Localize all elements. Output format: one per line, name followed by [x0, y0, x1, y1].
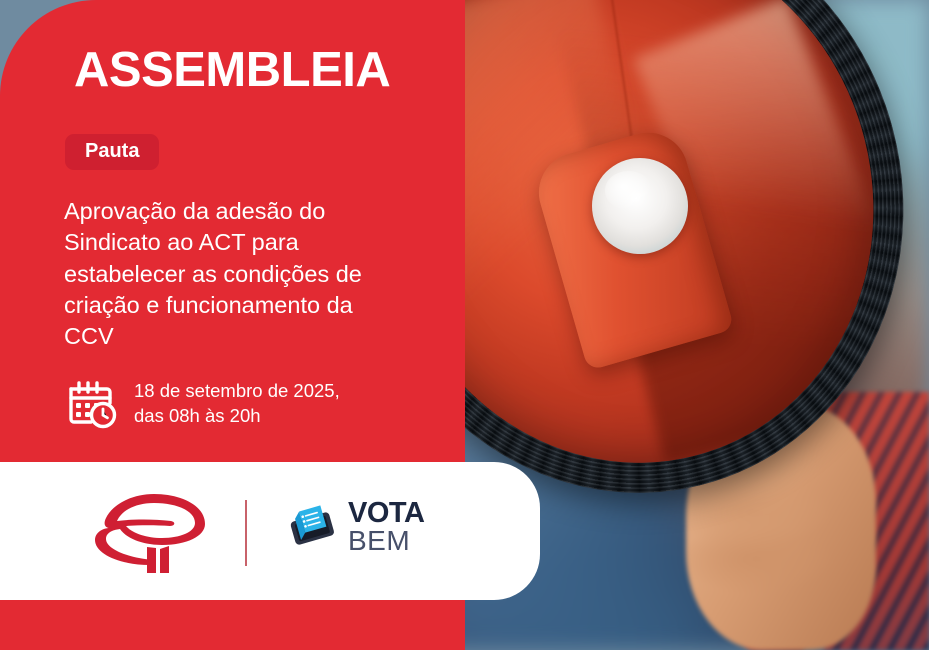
bem-label: BEM — [348, 528, 424, 554]
page-title: ASSEMBLEIA — [74, 46, 390, 95]
phone-ballot-icon — [288, 504, 340, 550]
union-tree-logo-icon — [92, 492, 210, 574]
event-datetime: 18 de setembro de 2025, das 08h às 20h — [134, 379, 340, 429]
vota-label: VOTA — [348, 500, 424, 527]
vota-bem-logo: VOTA BEM — [288, 500, 424, 553]
agenda-description: Aprovação da adesão do Sindicato ao ACT … — [64, 196, 394, 352]
datetime-row: 18 de setembro de 2025, das 08h às 20h — [66, 378, 340, 430]
calendar-clock-icon — [66, 378, 118, 430]
assembly-announcement-poster: ASSEMBLEIA Pauta Aprovação da adesão do … — [0, 0, 929, 650]
logo-row: VOTA BEM — [0, 462, 540, 600]
agenda-badge: Pauta — [65, 134, 159, 170]
logo-divider — [245, 500, 247, 566]
megaphone-driver-cap — [592, 158, 688, 254]
